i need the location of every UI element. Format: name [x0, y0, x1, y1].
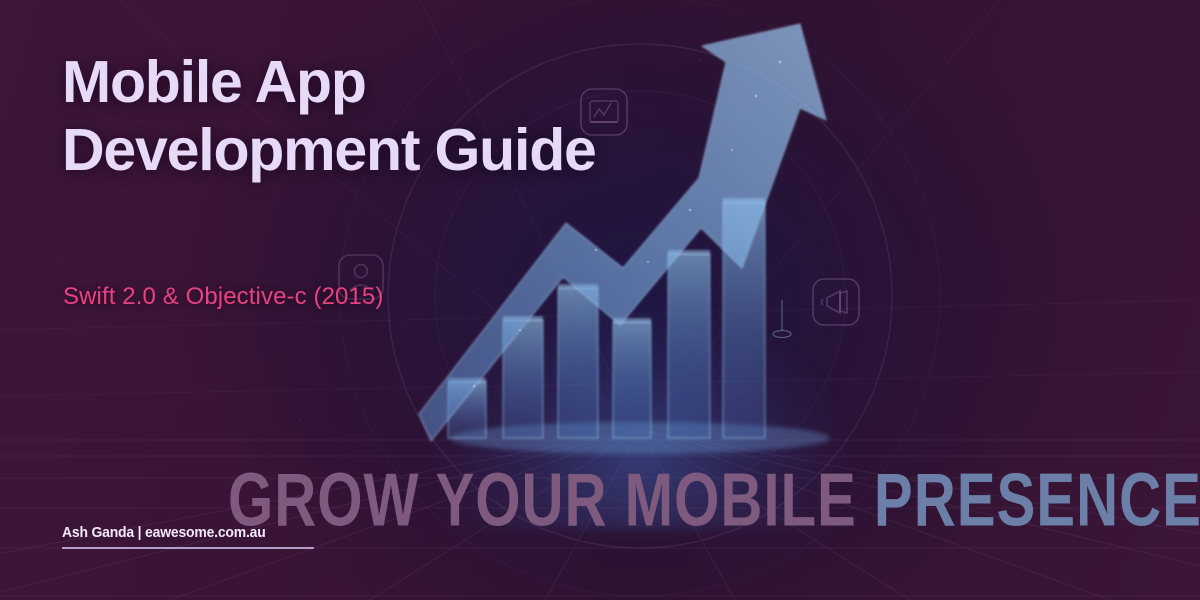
bar-2: [503, 316, 543, 438]
bar-4: [613, 318, 651, 438]
promo-banner: GROW YOUR MOBILE PRESENCE Mobile App Dev…: [0, 0, 1200, 600]
bar-5: [668, 250, 710, 438]
headline-line-2: Development Guide: [62, 116, 782, 184]
megaphone-icon: [810, 276, 862, 328]
bar-1: [448, 378, 486, 438]
footer-credit: Ash Ganda | eawesome.com.au: [62, 524, 266, 541]
page-title: Mobile App Development Guide: [62, 48, 782, 185]
bar-6: [723, 198, 765, 438]
slogan-part2: PRESENCE: [874, 457, 1200, 541]
slogan-part1: GROW YOUR MOBILE: [228, 457, 857, 541]
footer-underline: [62, 547, 314, 549]
headline-line-1: Mobile App: [62, 49, 366, 115]
bar-3: [558, 284, 598, 438]
subtitle: Swift 2.0 & Objective-c (2015): [63, 283, 383, 311]
node-marker: [773, 300, 791, 338]
slogan-watermark: GROW YOUR MOBILE PRESENCE: [228, 456, 1200, 543]
